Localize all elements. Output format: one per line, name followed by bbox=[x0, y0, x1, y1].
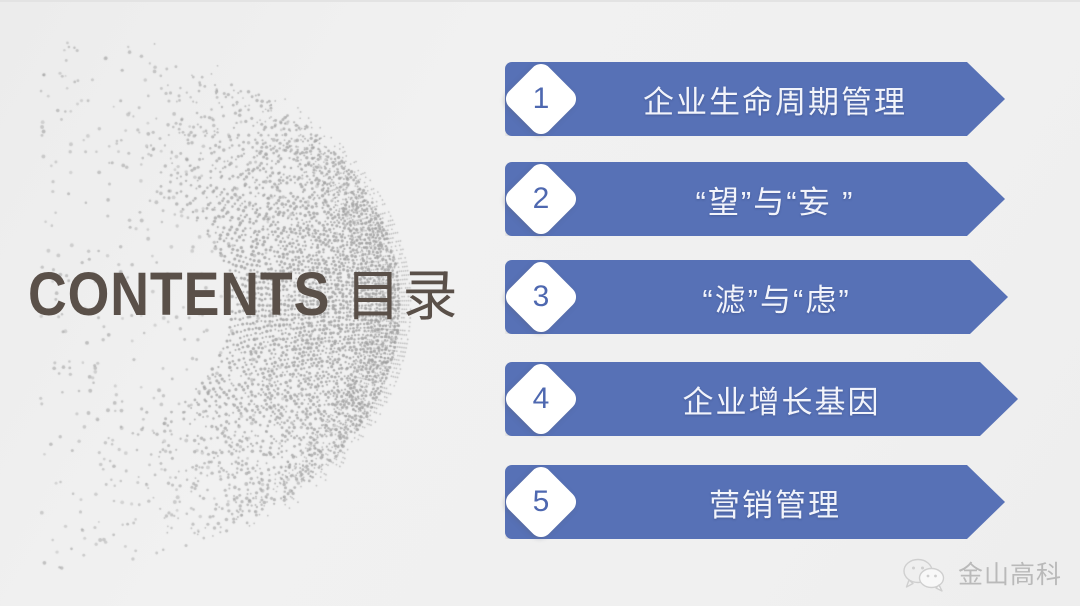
watermark-text: 金山高科 bbox=[958, 563, 1062, 588]
contents-item-2[interactable]: 2 “望”与“妄 ” bbox=[505, 162, 1005, 236]
contents-item-number: 5 bbox=[513, 474, 569, 530]
contents-item-label: 企业生命周期管理 bbox=[605, 62, 945, 136]
contents-item-1[interactable]: 1 企业生命周期管理 bbox=[505, 62, 1005, 136]
wechat-icon bbox=[902, 558, 948, 592]
contents-item-label: 营销管理 bbox=[605, 465, 945, 539]
contents-item-number: 4 bbox=[513, 371, 569, 427]
contents-item-5[interactable]: 5 营销管理 bbox=[505, 465, 1005, 539]
contents-item-3[interactable]: 3 “滤”与“虑” bbox=[505, 260, 1008, 334]
contents-item-number: 3 bbox=[513, 269, 569, 325]
contents-item-number: 1 bbox=[513, 71, 569, 127]
page-title: CONTENTS 目录 bbox=[28, 264, 460, 325]
contents-item-number: 2 bbox=[513, 171, 569, 227]
contents-item-4[interactable]: 4 企业增长基因 bbox=[505, 362, 1018, 436]
contents-item-label: “望”与“妄 ” bbox=[605, 162, 945, 236]
contents-item-label: “滤”与“虑” bbox=[605, 260, 948, 334]
contents-item-label: 企业增长基因 bbox=[605, 362, 958, 436]
watermark: 金山高科 bbox=[902, 558, 1062, 592]
page-title-english: CONTENTS bbox=[28, 264, 330, 325]
presentation-slide: CONTENTS 目录 1 企业生命周期管理 2 “望”与“妄 ” 3 “滤”与… bbox=[0, 0, 1080, 606]
page-title-chinese: 目录 bbox=[346, 269, 460, 324]
